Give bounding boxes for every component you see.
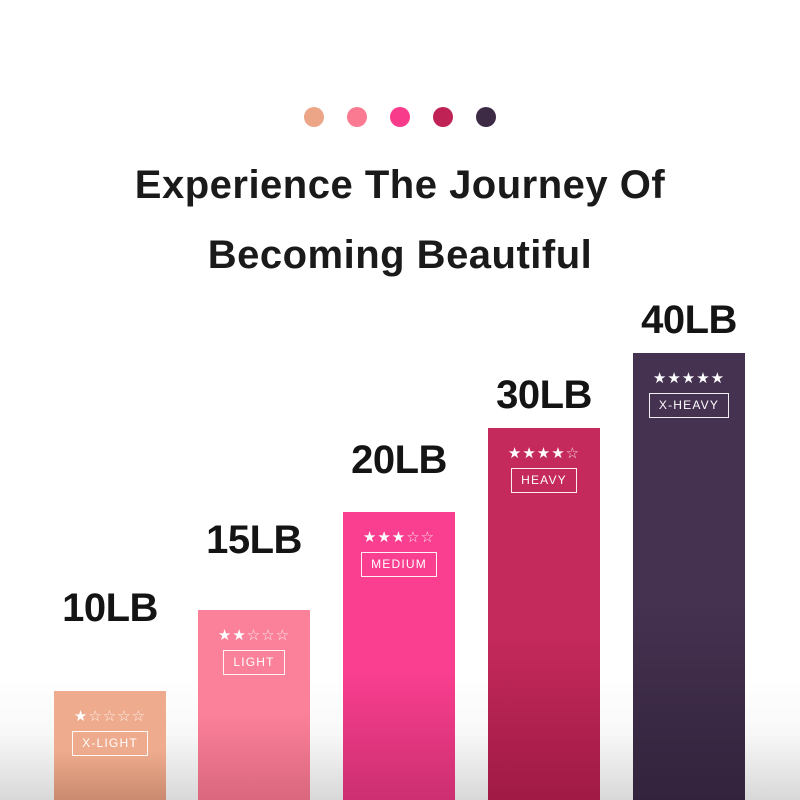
resistance-bar-chart: 10LB★☆☆☆☆X-LIGHT15LB★★☆☆☆LIGHT20LB★★★☆☆M…	[0, 0, 800, 800]
bar-group-30lb: 30LB★★★★☆HEAVY	[488, 308, 600, 800]
star-rating-icon: ★★★☆☆	[363, 530, 435, 545]
star-rating-icon: ★★★★☆	[508, 446, 580, 461]
bar-weight-label: 40LB	[633, 298, 745, 343]
bar-group-10lb: 10LB★☆☆☆☆X-LIGHT	[54, 571, 166, 800]
stars-filled: ★★★	[363, 529, 406, 546]
bar-40lb[interactable]: ★★★★★X-HEAVY	[633, 353, 745, 800]
bar-20lb[interactable]: ★★★☆☆MEDIUM	[343, 512, 455, 800]
bar-badge: ★★★☆☆MEDIUM	[343, 530, 455, 577]
bar-10lb[interactable]: ★☆☆☆☆X-LIGHT	[54, 691, 166, 800]
bar-badge: ★★☆☆☆LIGHT	[198, 628, 310, 675]
bar-weight-label: 15LB	[198, 518, 310, 563]
stars-empty: ☆☆	[406, 529, 435, 546]
bar-badge: ★☆☆☆☆X-LIGHT	[54, 709, 166, 756]
resistance-level-badge: LIGHT	[223, 650, 284, 675]
resistance-level-badge: X-HEAVY	[649, 393, 729, 418]
product-infographic: Experience The Journey Of Becoming Beaut…	[0, 0, 800, 800]
bar-badge: ★★★★☆HEAVY	[488, 446, 600, 493]
stars-filled: ★★	[218, 627, 247, 644]
star-rating-icon: ★★★★★	[653, 371, 725, 386]
bar-group-40lb: 40LB★★★★★X-HEAVY	[633, 233, 745, 800]
bar-group-15lb: 15LB★★☆☆☆LIGHT	[198, 490, 310, 800]
resistance-level-badge: X-LIGHT	[72, 731, 148, 756]
stars-filled: ★★★★★	[653, 370, 725, 387]
resistance-level-badge: HEAVY	[511, 468, 577, 493]
stars-filled: ★	[74, 708, 88, 725]
bar-weight-label: 10LB	[54, 586, 166, 631]
bar-weight-label: 20LB	[343, 438, 455, 483]
stars-empty: ☆☆☆☆	[88, 708, 146, 725]
stars-empty: ☆	[566, 445, 580, 462]
bar-30lb[interactable]: ★★★★☆HEAVY	[488, 428, 600, 800]
star-rating-icon: ★★☆☆☆	[218, 628, 290, 643]
bar-group-20lb: 20LB★★★☆☆MEDIUM	[343, 392, 455, 800]
bar-15lb[interactable]: ★★☆☆☆LIGHT	[198, 610, 310, 800]
star-rating-icon: ★☆☆☆☆	[74, 709, 146, 724]
resistance-level-badge: MEDIUM	[361, 552, 437, 577]
bar-weight-label: 30LB	[488, 373, 600, 418]
stars-empty: ☆☆☆	[247, 627, 290, 644]
bar-badge: ★★★★★X-HEAVY	[633, 371, 745, 418]
stars-filled: ★★★★	[508, 445, 566, 462]
